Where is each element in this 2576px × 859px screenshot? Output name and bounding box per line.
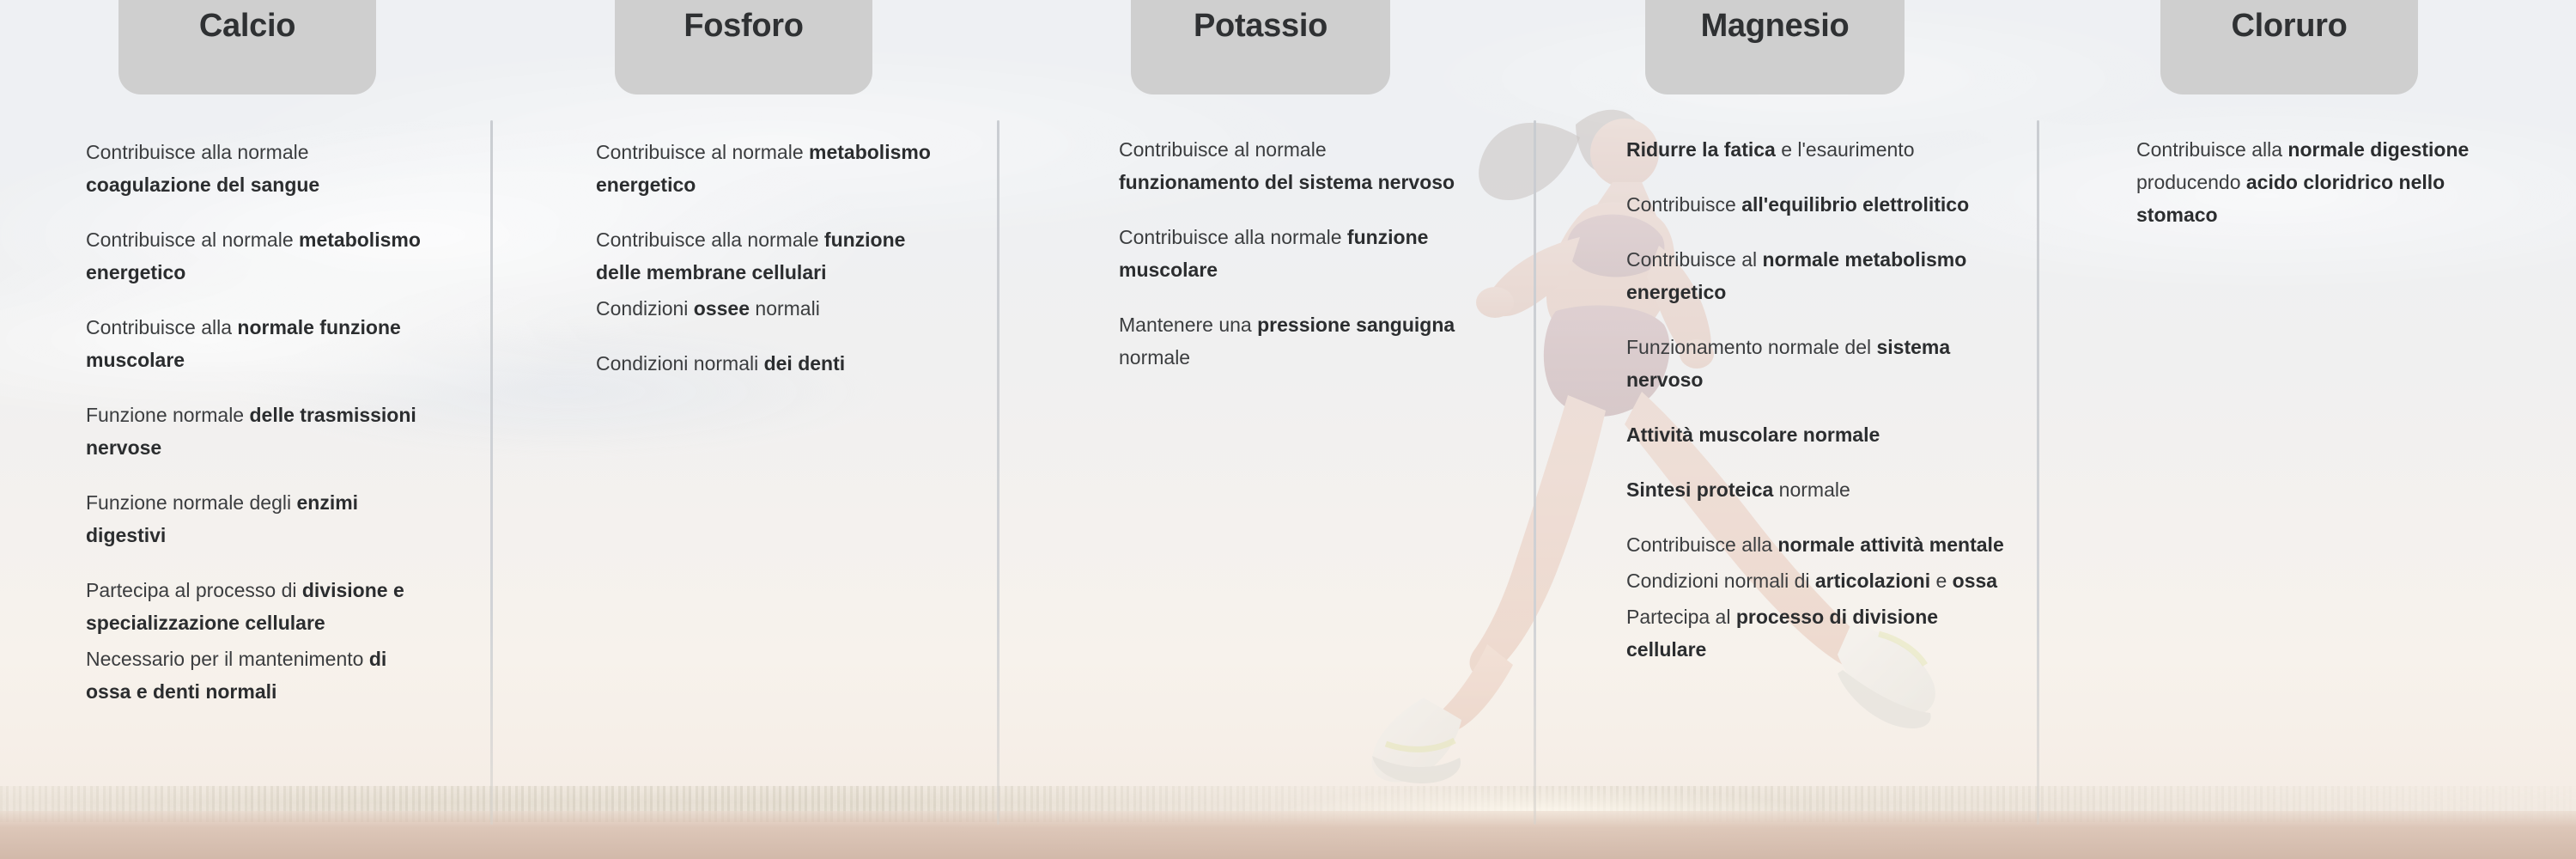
mineral-title-cloruro: Cloruro xyxy=(2231,8,2347,45)
mineral-title-calcio: Calcio xyxy=(199,8,295,45)
benefit-list-magnesio: Ridurre la fatica e l'esaurimento Contri… xyxy=(1626,133,2021,666)
column-divider-4 xyxy=(2037,120,2039,825)
benefit-item: Ridurre la fatica e l'esaurimento xyxy=(1626,133,2021,166)
benefit-item: Contribuisce al normale metabolismo ener… xyxy=(86,223,429,289)
column-divider-3 xyxy=(1534,120,1536,825)
background-ground xyxy=(0,811,2576,859)
benefit-item: Funzione normale delle trasmissioni nerv… xyxy=(86,399,429,464)
mineral-title-magnesio: Magnesio xyxy=(1701,8,1850,45)
column-divider-1 xyxy=(490,120,493,825)
mineral-title-fosforo: Fosforo xyxy=(683,8,803,45)
benefit-item: Contribuisce al normale funzionamento de… xyxy=(1119,133,1462,198)
benefit-item: Contribuisce al normale metabolismo ener… xyxy=(596,136,931,201)
benefit-item: Contribuisce al normale metabolismo ener… xyxy=(1626,243,2021,308)
benefit-item: Contribuisce alla normale attività menta… xyxy=(1626,528,2021,561)
mineral-title-pill-magnesio[interactable]: Magnesio xyxy=(1645,0,1905,94)
benefit-item: Contribuisce alla normale digestione pro… xyxy=(2136,133,2480,231)
mineral-title-pill-cloruro[interactable]: Cloruro xyxy=(2160,0,2418,94)
column-divider-2 xyxy=(997,120,999,825)
mineral-title-pill-potassio[interactable]: Potassio xyxy=(1131,0,1390,94)
benefit-item: Funzionamento normale del sistema nervos… xyxy=(1626,331,2021,396)
benefit-item: Necessario per il mantenimento di ossa e… xyxy=(86,643,429,708)
benefit-item: Mantenere una pressione sanguigna normal… xyxy=(1119,308,1462,374)
mineral-title-pill-fosforo[interactable]: Fosforo xyxy=(615,0,872,94)
minerals-benefits-board: Calcio Contribuisce alla normale coagula… xyxy=(0,0,2576,859)
benefit-item: Contribuisce alla normale coagulazione d… xyxy=(86,136,429,201)
benefit-item: Contribuisce alla normale funzione musco… xyxy=(86,311,429,376)
benefit-item: Partecipa al processo di divisione cellu… xyxy=(1626,600,2021,666)
benefit-list-calcio: Contribuisce alla normale coagulazione d… xyxy=(86,136,429,708)
mineral-title-potassio: Potassio xyxy=(1194,8,1327,45)
benefit-list-potassio: Contribuisce al normale funzionamento de… xyxy=(1119,133,1462,374)
benefit-item: Condizioni normali di articolazioni e os… xyxy=(1626,564,2021,597)
mineral-title-pill-calcio[interactable]: Calcio xyxy=(118,0,376,94)
benefit-item: Contribuisce all'equilibrio elettrolitic… xyxy=(1626,188,2021,221)
benefit-item: Condizioni ossee normali xyxy=(596,292,931,325)
benefit-list-fosforo: Contribuisce al normale metabolismo ener… xyxy=(596,136,931,380)
benefit-item: Condizioni normali dei denti xyxy=(596,347,931,380)
benefit-item: Contribuisce alla normale funzione delle… xyxy=(596,223,931,289)
benefit-item: Partecipa al processo di divisione e spe… xyxy=(86,574,429,639)
benefit-item: Attività muscolare normale xyxy=(1626,418,2021,451)
benefit-item: Funzione normale degli enzimi digestivi xyxy=(86,486,429,551)
benefit-list-cloruro: Contribuisce alla normale digestione pro… xyxy=(2136,133,2480,231)
benefit-item: Contribuisce alla normale funzione musco… xyxy=(1119,221,1462,286)
benefit-item: Sintesi proteica normale xyxy=(1626,473,2021,506)
